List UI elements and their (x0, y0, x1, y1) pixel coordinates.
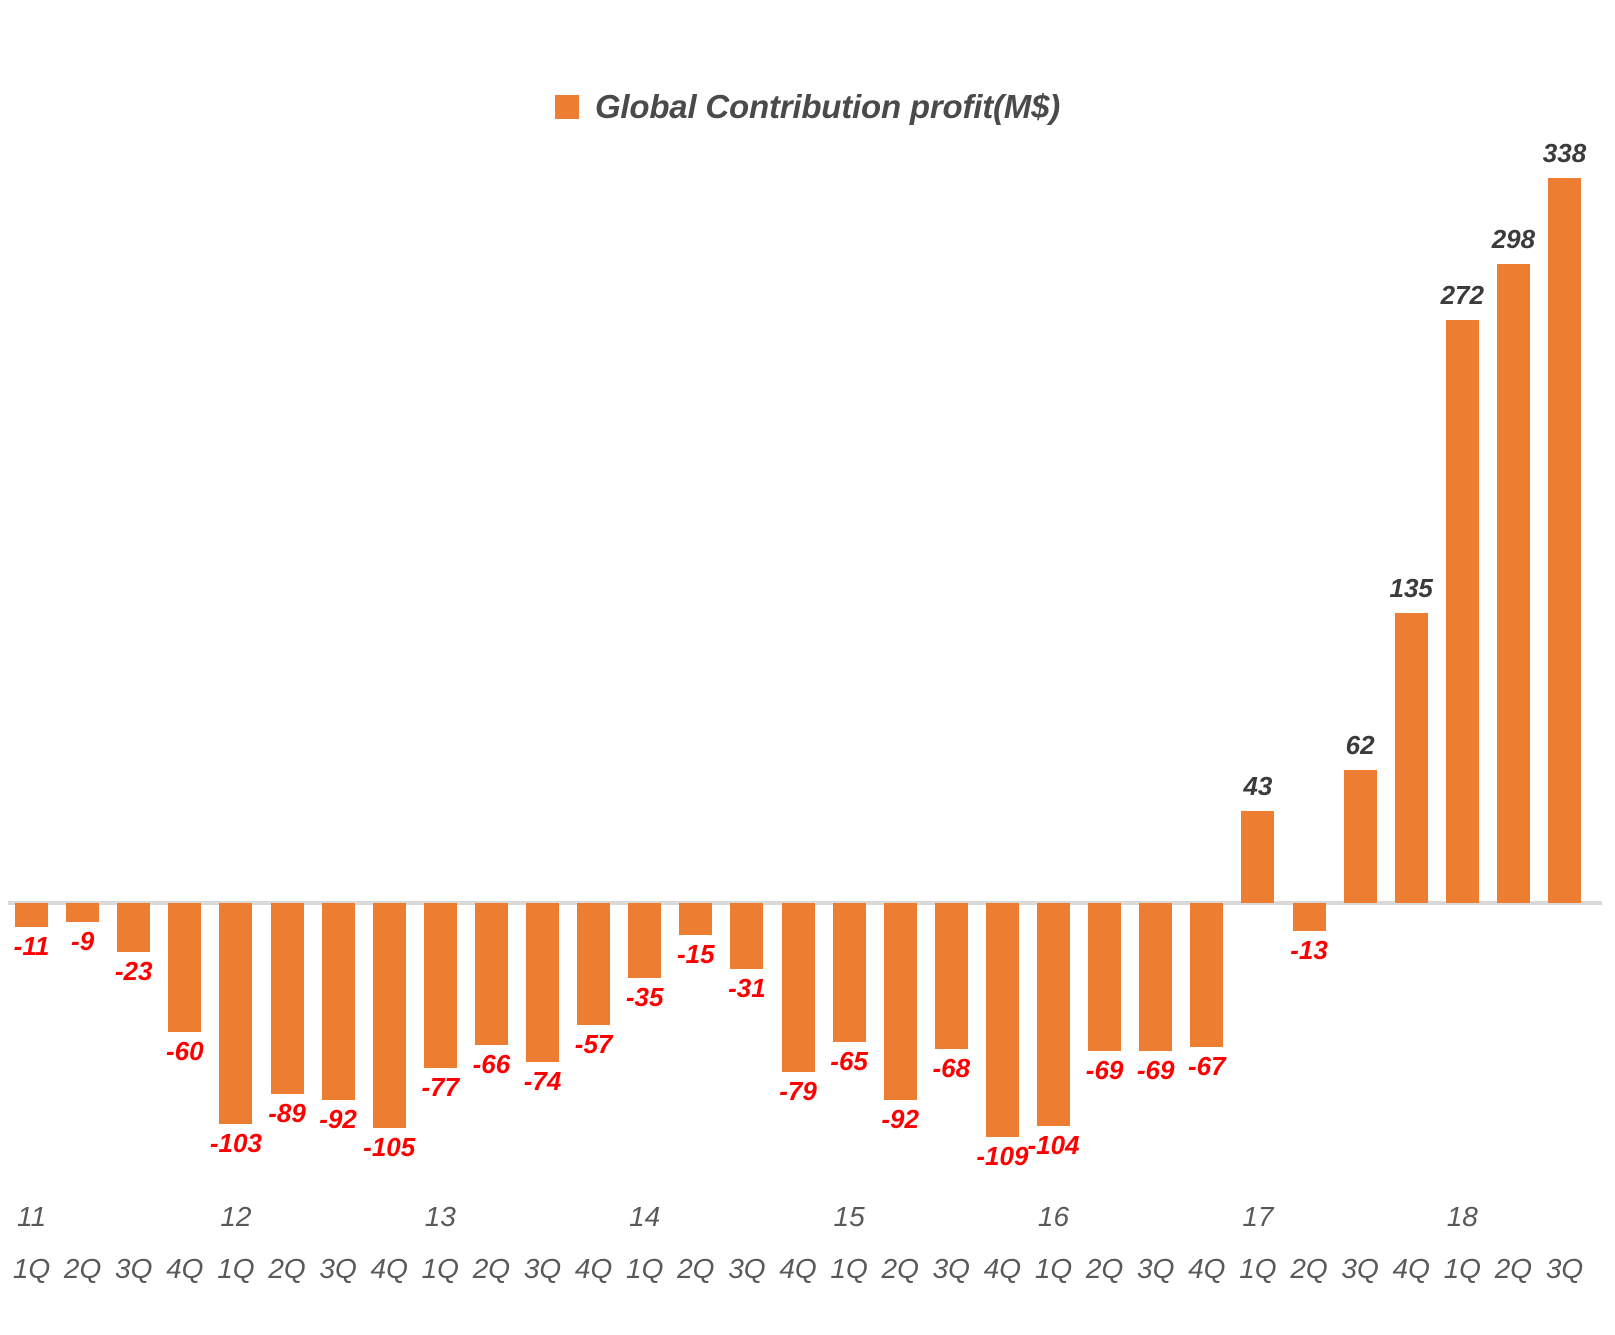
bar-14-4Q[interactable] (782, 903, 815, 1072)
data-label-16-4Q: -67 (1162, 1051, 1252, 1082)
bar-15-4Q[interactable] (986, 903, 1019, 1137)
bar-16-2Q[interactable] (1088, 903, 1121, 1051)
data-label-15-3Q: -68 (906, 1053, 996, 1084)
data-label-12-3Q: -92 (293, 1104, 383, 1135)
data-label-13-1Q: -77 (395, 1072, 485, 1103)
data-label-16-1Q: -104 (1009, 1130, 1099, 1161)
bar-15-3Q[interactable] (935, 903, 968, 1049)
bar-15-2Q[interactable] (884, 903, 917, 1100)
data-label-14-1Q: -35 (600, 982, 690, 1013)
x-axis-year-label-11: 11 (0, 1201, 67, 1233)
bar-14-3Q[interactable] (730, 903, 763, 969)
data-label-13-4Q: -57 (549, 1029, 639, 1060)
bar-17-1Q[interactable] (1241, 811, 1274, 903)
data-label-11-2Q: -9 (38, 926, 128, 957)
x-axis-year-label-12: 12 (201, 1201, 271, 1233)
plot-area: -11-9-23-60-103-89-92-105-77-66-74-57-35… (0, 0, 1615, 1335)
bar-16-4Q[interactable] (1190, 903, 1223, 1047)
bar-15-1Q[interactable] (833, 903, 866, 1042)
x-axis-year-label-15: 15 (814, 1201, 884, 1233)
x-axis-year-label-13: 13 (405, 1201, 475, 1233)
data-label-11-1Q: -11 (0, 931, 77, 962)
bar-17-2Q[interactable] (1293, 903, 1326, 931)
data-label-14-3Q: -31 (702, 973, 792, 1004)
bar-17-3Q[interactable] (1344, 770, 1377, 903)
data-label-17-2Q: -13 (1264, 935, 1354, 966)
bar-17-4Q[interactable] (1395, 613, 1428, 903)
bar-12-1Q[interactable] (219, 903, 252, 1124)
data-label-11-3Q: -23 (89, 956, 179, 987)
chart-container: Global Contribution profit(M$) -11-9-23-… (0, 0, 1615, 1335)
x-axis-year-label-14: 14 (610, 1201, 680, 1233)
bar-11-1Q[interactable] (15, 903, 48, 927)
bar-16-3Q[interactable] (1139, 903, 1172, 1051)
data-label-17-3Q: 62 (1315, 730, 1405, 761)
data-label-18-1Q: 272 (1417, 280, 1507, 311)
x-axis-year-label-18: 18 (1427, 1201, 1497, 1233)
data-label-15-2Q: -92 (855, 1104, 945, 1135)
bar-16-1Q[interactable] (1037, 903, 1070, 1126)
data-label-13-2Q: -66 (446, 1049, 536, 1080)
data-label-18-3Q: 338 (1520, 138, 1610, 169)
data-label-12-4Q: -105 (344, 1132, 434, 1163)
bar-11-3Q[interactable] (117, 903, 150, 952)
data-label-18-2Q: 298 (1468, 224, 1558, 255)
bar-13-4Q[interactable] (577, 903, 610, 1025)
data-label-16-3Q: -69 (1111, 1055, 1201, 1086)
data-label-12-2Q: -89 (242, 1098, 332, 1129)
bar-13-3Q[interactable] (526, 903, 559, 1062)
data-label-15-4Q: -109 (957, 1141, 1047, 1172)
data-label-14-4Q: -79 (753, 1076, 843, 1107)
data-label-15-1Q: -65 (804, 1046, 894, 1077)
bar-11-2Q[interactable] (66, 903, 99, 922)
data-label-17-1Q: 43 (1213, 771, 1303, 802)
bar-13-1Q[interactable] (424, 903, 457, 1068)
data-label-16-2Q: -69 (1060, 1055, 1150, 1086)
x-axis-quarter-label-30: 3Q (1530, 1253, 1600, 1285)
data-label-14-2Q: -15 (651, 939, 741, 970)
bar-12-4Q[interactable] (373, 903, 406, 1128)
bar-11-4Q[interactable] (168, 903, 201, 1032)
bar-12-2Q[interactable] (271, 903, 304, 1094)
bar-14-2Q[interactable] (679, 903, 712, 935)
data-label-13-3Q: -74 (498, 1066, 588, 1097)
bar-18-2Q[interactable] (1497, 264, 1530, 903)
bar-18-3Q[interactable] (1548, 178, 1581, 903)
bar-13-2Q[interactable] (475, 903, 508, 1045)
bar-12-3Q[interactable] (322, 903, 355, 1100)
data-label-17-4Q: 135 (1366, 573, 1456, 604)
x-axis-year-label-17: 17 (1223, 1201, 1293, 1233)
bar-18-1Q[interactable] (1446, 320, 1479, 903)
data-label-12-1Q: -103 (191, 1128, 281, 1159)
x-axis-year-label-16: 16 (1019, 1201, 1089, 1233)
bar-14-1Q[interactable] (628, 903, 661, 978)
data-label-11-4Q: -60 (140, 1036, 230, 1067)
